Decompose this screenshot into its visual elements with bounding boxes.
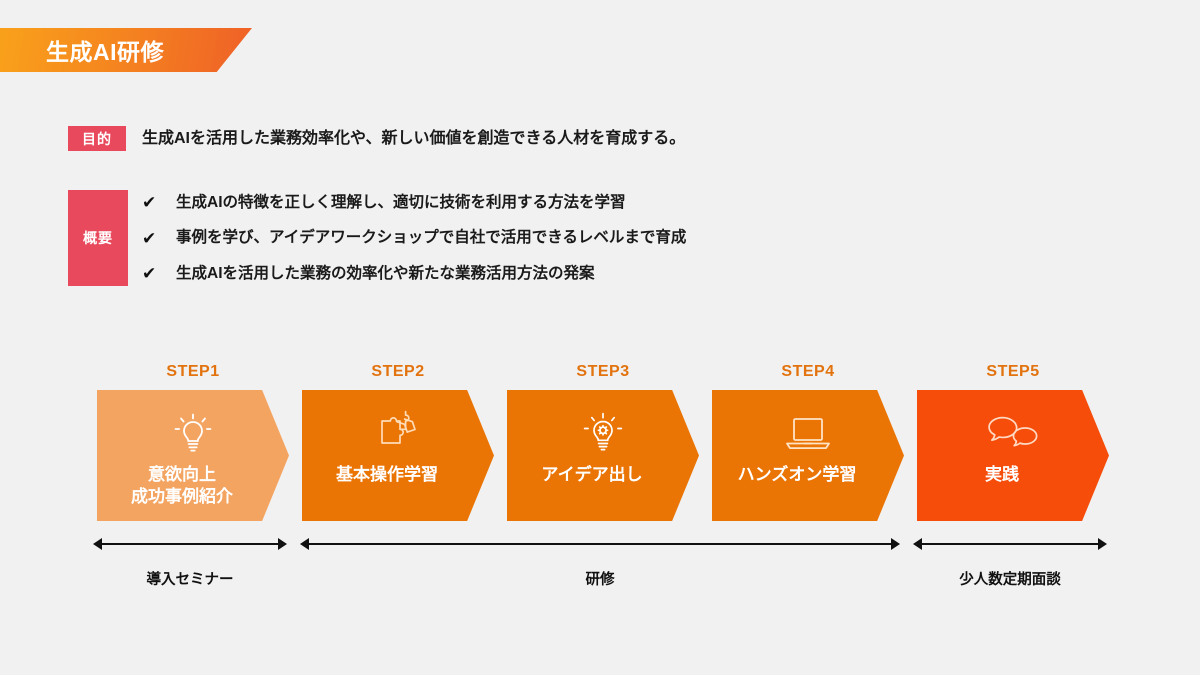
list-item: ✔ 生成AIの特徴を正しく理解し、適切に技術を利用する方法を学習 bbox=[142, 194, 686, 211]
step-3: STEP3 アイデア出し bbox=[507, 360, 699, 521]
page-title: 生成AI研修 bbox=[46, 33, 164, 67]
step-4-line-1: ハンズオン学習 bbox=[717, 464, 877, 486]
step-3-line-1: アイデア出し bbox=[512, 464, 672, 486]
step-2-label: STEP2 bbox=[302, 360, 494, 384]
step-1-text: 意欲向上 成功事例紹介 bbox=[102, 464, 262, 508]
step-5-label: STEP5 bbox=[917, 360, 1109, 384]
step-5: STEP5 実践 bbox=[917, 360, 1109, 521]
step-5-chevron: 実践 bbox=[917, 390, 1109, 521]
phase-1: 導入セミナー bbox=[93, 537, 287, 589]
step-flow: STEP1 意欲向上 成功事例紹介 STEP2 bbox=[97, 360, 1107, 530]
step-5-line-1: 実践 bbox=[922, 464, 1082, 486]
overview-item-label: 事例を学び、アイデアワークショップで自社で活用できるレベルまで育成 bbox=[176, 230, 686, 246]
list-item: ✔ 生成AIを活用した業務の効率化や新たな業務活用方法の発案 bbox=[142, 265, 686, 282]
phase-2-label: 研修 bbox=[300, 568, 900, 589]
step-3-text: アイデア出し bbox=[512, 464, 672, 486]
slide-title-banner: 生成AI研修 bbox=[0, 28, 252, 72]
overview-badge: 概要 bbox=[68, 190, 128, 286]
step-1-chevron: 意欲向上 成功事例紹介 bbox=[97, 390, 289, 521]
overview-list: ✔ 生成AIの特徴を正しく理解し、適切に技術を利用する方法を学習 ✔ 事例を学び… bbox=[142, 190, 686, 286]
puzzle-piece-icon bbox=[371, 408, 425, 458]
step-1: STEP1 意欲向上 成功事例紹介 bbox=[97, 360, 289, 521]
purpose-badge: 目的 bbox=[68, 126, 126, 151]
lightbulb-gear-icon bbox=[576, 408, 630, 458]
double-arrow-icon bbox=[93, 537, 287, 551]
phase-3: 少人数定期面談 bbox=[913, 537, 1107, 589]
step-5-text: 実践 bbox=[922, 464, 1082, 486]
double-arrow-icon bbox=[300, 537, 900, 551]
step-4-text: ハンズオン学習 bbox=[717, 464, 877, 486]
step-2: STEP2 基本操作学習 bbox=[302, 360, 494, 521]
step-1-line-2: 成功事例紹介 bbox=[102, 486, 262, 508]
phase-3-label: 少人数定期面談 bbox=[913, 568, 1107, 589]
step-1-line-1: 意欲向上 bbox=[102, 464, 262, 486]
check-icon: ✔ bbox=[142, 230, 162, 247]
step-2-text: 基本操作学習 bbox=[307, 464, 467, 486]
step-1-label: STEP1 bbox=[97, 360, 289, 384]
check-icon: ✔ bbox=[142, 194, 162, 211]
double-arrow-icon bbox=[913, 537, 1107, 551]
speech-bubbles-icon bbox=[986, 408, 1040, 458]
overview-item-label: 生成AIの特徴を正しく理解し、適切に技術を利用する方法を学習 bbox=[176, 195, 626, 211]
check-icon: ✔ bbox=[142, 265, 162, 282]
lightbulb-icon bbox=[166, 408, 220, 458]
phase-arrows: 導入セミナー 研修 少人数定期面談 bbox=[0, 537, 1200, 597]
step-2-line-1: 基本操作学習 bbox=[307, 464, 467, 486]
step-4-chevron: ハンズオン学習 bbox=[712, 390, 904, 521]
laptop-icon bbox=[781, 408, 835, 458]
phase-2: 研修 bbox=[300, 537, 900, 589]
step-3-chevron: アイデア出し bbox=[507, 390, 699, 521]
overview-item-label: 生成AIを活用した業務の効率化や新たな業務活用方法の発案 bbox=[176, 266, 595, 282]
purpose-text: 生成AIを活用した業務効率化や、新しい価値を創造できる人材を育成する。 bbox=[142, 126, 685, 151]
step-4-label: STEP4 bbox=[712, 360, 904, 384]
step-4: STEP4 ハンズオン学習 bbox=[712, 360, 904, 521]
overview-section: 概要 ✔ 生成AIの特徴を正しく理解し、適切に技術を利用する方法を学習 ✔ 事例… bbox=[68, 190, 686, 286]
purpose-section: 目的 生成AIを活用した業務効率化や、新しい価値を創造できる人材を育成する。 bbox=[68, 126, 685, 151]
list-item: ✔ 事例を学び、アイデアワークショップで自社で活用できるレベルまで育成 bbox=[142, 230, 686, 247]
step-2-chevron: 基本操作学習 bbox=[302, 390, 494, 521]
step-3-label: STEP3 bbox=[507, 360, 699, 384]
phase-1-label: 導入セミナー bbox=[93, 568, 287, 589]
